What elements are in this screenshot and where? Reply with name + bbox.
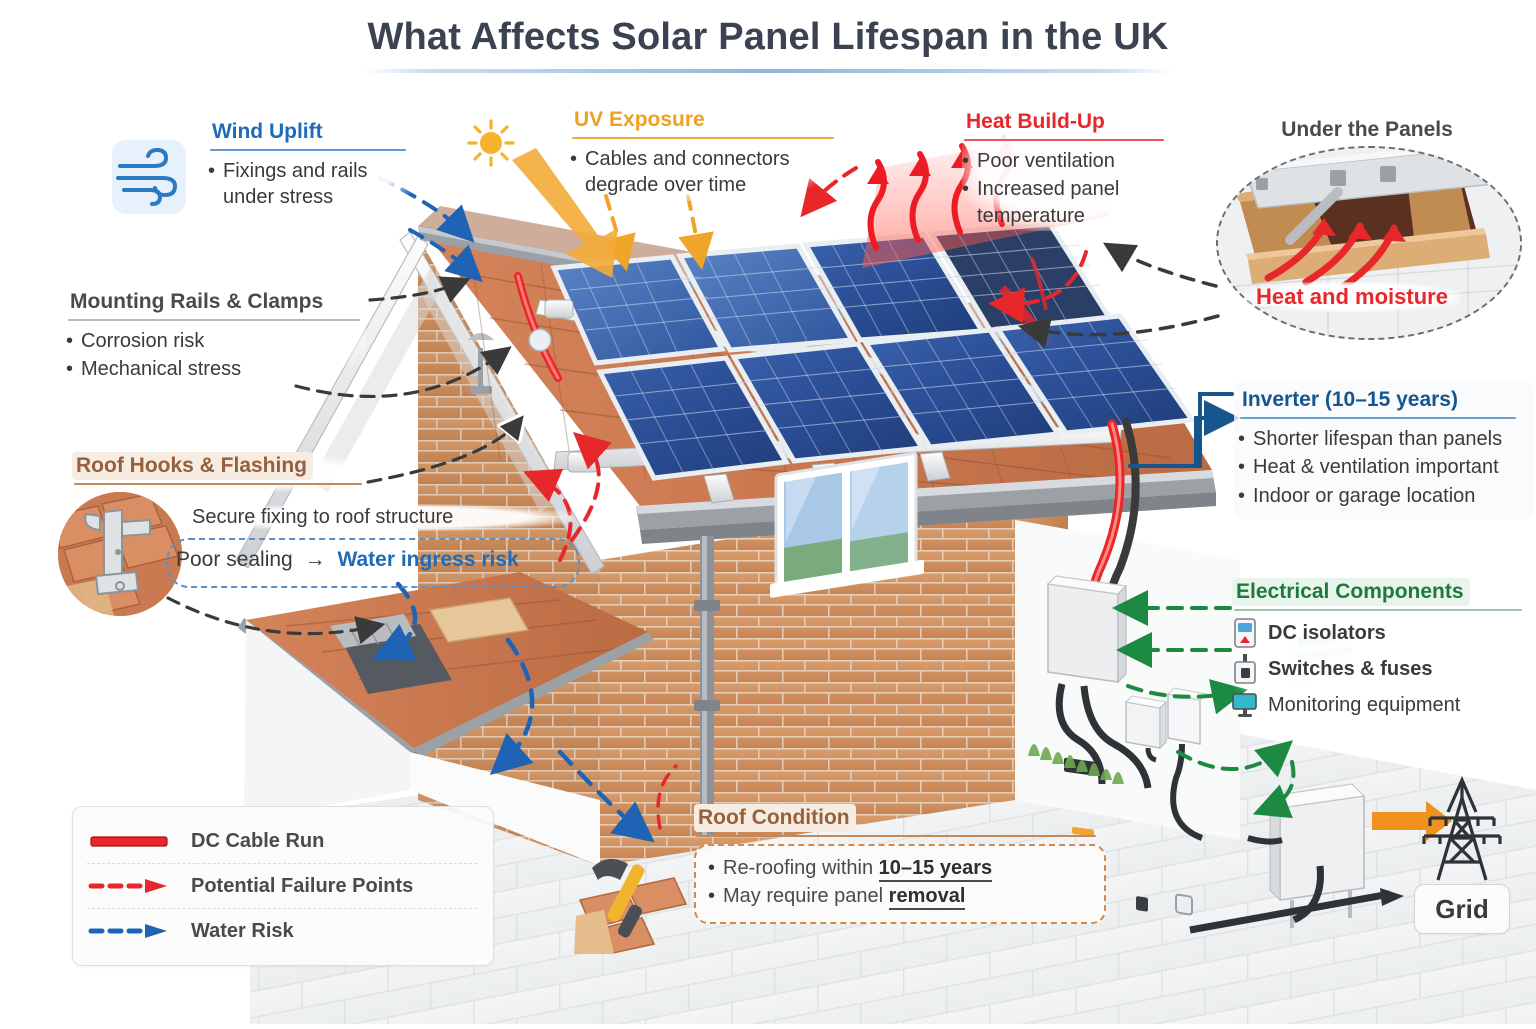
electrical-item-monitoring: Monitoring equipment [1232,690,1528,720]
bullet-prefix: May require panel [723,885,883,907]
card-heading: Roof Condition [694,804,856,832]
monitor-icon [1232,690,1258,720]
card-bullets: •Fixings and rails under stress [208,158,420,211]
grid-badge: Grid [1414,884,1510,934]
bullet-emphasis: removal [889,885,966,910]
bullet-text: Heat & ventilation important [1253,454,1499,480]
list-item: •Increased panel temperature [962,176,1170,229]
page-title: What Affects Solar Panel Lifespan in the… [0,16,1536,59]
legend-swatch-solid-red [87,831,175,851]
card-wind-uplift: Wind Uplift •Fixings and rails under str… [208,118,420,213]
bullet-text: Mechanical stress [81,356,241,382]
card-heading: Mounting Rails & Clamps [66,288,329,316]
card-heading: Roof Hooks & Flashing [72,452,313,480]
card-rule [210,149,406,151]
list-item: •Poor ventilation [962,148,1170,174]
list-item: •Cables and connectors degrade over time [570,146,834,199]
card-bullets: •Poor ventilation •Increased panel tempe… [962,148,1170,229]
electrical-item-dc-isolators: DC isolators [1232,618,1528,648]
card-heading: Inverter (10–15 years) [1238,386,1464,414]
arrow-glyph: → [299,548,332,571]
roof-hooks-line1: Secure fixing to roof structure [192,504,572,531]
bullet-dot: • [1238,454,1245,480]
card-heat-buildup: Heat Build-Up •Poor ventilation •Increas… [962,108,1170,231]
bullet-dot: • [708,883,715,909]
water-ingress-text: Poor sealing → Water ingress risk [176,548,519,572]
legend: DC Cable Run Potential Failure Points [72,806,494,966]
legend-item-failure-points: Potential Failure Points [87,863,477,908]
bullet-emphasis: 10–15 years [879,857,992,882]
bullet-prefix: Re-roofing within [723,857,873,879]
electrical-item-label: Switches & fuses [1268,658,1433,681]
list-item: •Heat & ventilation important [1238,454,1528,480]
legend-swatch-dashed-red [87,876,175,896]
card-bullets: •Corrosion risk •Mechanical stress [66,328,366,383]
sun-icon [466,118,516,173]
bullet-dot: • [962,176,969,202]
card-rule [68,319,360,321]
bullet-dot: • [208,158,215,184]
bullet-dot: • [708,855,715,881]
bullet-dot: • [66,356,73,382]
card-bullets: •Shorter lifespan than panels •Heat & ve… [1238,426,1528,509]
list-item: • May require panel removal [708,883,1090,909]
legend-swatch-dashed-blue [87,921,175,941]
card-roof-hooks: Roof Hooks & Flashing [72,452,372,492]
title-underline [363,69,1173,73]
card-heading: Heat Build-Up [962,108,1111,136]
card-mounting-rails: Mounting Rails & Clamps •Corrosion risk … [66,288,366,385]
inset-under-panels-title: Under the Panels [1216,118,1518,142]
roof-condition-box: • Re-roofing within 10–15 years • May re… [694,844,1106,924]
bullet-text: Re-roofing within 10–15 years [723,855,992,881]
switch-fuse-icon [1232,654,1258,684]
card-inverter: Inverter (10–15 years) •Shorter lifespan… [1234,382,1534,519]
page-title-wrap: What Affects Solar Panel Lifespan in the… [0,16,1536,73]
inset-heat-moisture-label: Heat and moisture [1244,282,1460,312]
card-rule [964,139,1164,141]
bullet-text: May require panel removal [723,883,965,909]
bullet-text: Corrosion risk [81,328,204,354]
bullet-text: Increased panel temperature [977,176,1170,229]
list-item: •Mechanical stress [66,356,366,382]
card-bullets: • Re-roofing within 10–15 years • May re… [708,855,1090,910]
bullet-text: Cables and connectors degrade over time [585,146,834,199]
bullet-text: Poor ventilation [977,148,1115,174]
card-roof-condition: Roof Condition • Re-roofing within 10–15… [694,804,1106,924]
list-item: • Re-roofing within 10–15 years [708,855,1090,881]
card-electrical-components: Electrical Components DC isolators [1232,578,1528,726]
bullet-text: Indoor or garage location [1253,483,1475,509]
card-heading: Electrical Components [1232,578,1470,606]
card-bullets: •Cables and connectors degrade over time [570,146,834,199]
card-rule [74,483,362,485]
card-rule [572,137,834,139]
bullet-text: Shorter lifespan than panels [1253,426,1502,452]
legend-label: Water Risk [191,920,294,943]
wind-icon [112,140,186,214]
list-item: •Corrosion risk [66,328,366,354]
bullet-dot: • [1238,426,1245,452]
bullet-dot: • [1238,483,1245,509]
list-item: •Shorter lifespan than panels [1238,426,1528,452]
legend-label: DC Cable Run [191,830,324,853]
dc-isolator-icon [1232,618,1258,648]
electrical-item-switches-fuses: Switches & fuses [1232,654,1528,684]
list-item: •Fixings and rails under stress [208,158,420,211]
bullet-dot: • [962,148,969,174]
wind-icon-tile [112,140,186,214]
legend-label: Potential Failure Points [191,875,413,898]
list-item: •Indoor or garage location [1238,483,1528,509]
card-rule [1240,417,1516,419]
card-rule [1234,609,1522,611]
legend-item-water-risk: Water Risk [87,908,477,953]
electrical-item-label: DC isolators [1268,622,1386,645]
legend-item-dc-cable: DC Cable Run [87,819,477,863]
hammer-tiles-icon [570,838,690,959]
bullet-dot: • [570,146,577,172]
water-ingress-highlight: Water ingress risk [337,548,518,571]
electrical-item-label: Monitoring equipment [1268,694,1460,717]
inset-roof-hook [58,492,182,616]
card-heading: UV Exposure [570,106,711,134]
bullet-dot: • [66,328,73,354]
poor-sealing-label: Poor sealing [176,548,293,571]
card-uv-exposure: UV Exposure •Cables and connectors degra… [570,106,834,201]
bullet-text: Fixings and rails under stress [223,158,420,211]
card-heading: Wind Uplift [208,118,329,146]
card-rule [696,835,1096,837]
